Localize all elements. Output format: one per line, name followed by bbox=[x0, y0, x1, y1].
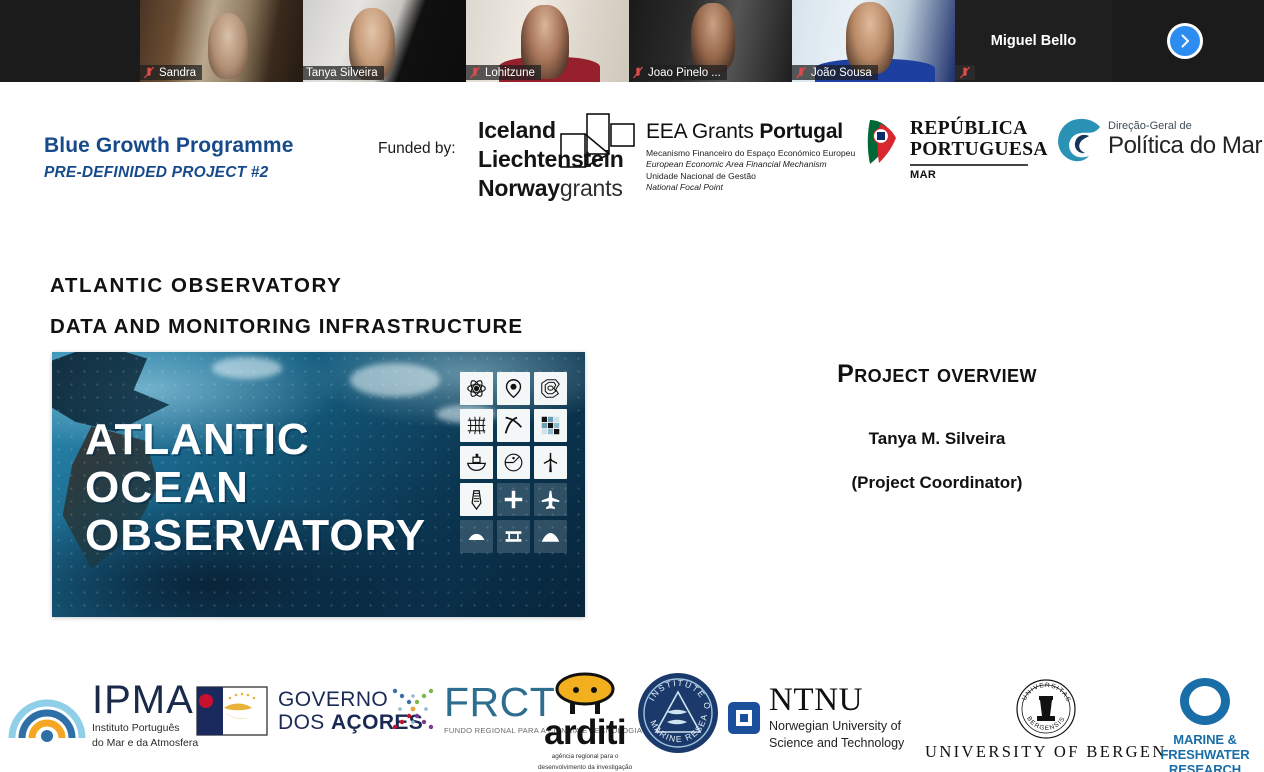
programme-title: Blue Growth Programme PRE-DEFINIDED PROJ… bbox=[44, 134, 293, 182]
wave-swirl-icon bbox=[1056, 114, 1102, 164]
project-overview-block: Project overview Tanya M. Silveira (Proj… bbox=[810, 360, 1064, 493]
dgpm-big-line: Política do Mar bbox=[1108, 133, 1262, 159]
frct-dots-icon bbox=[388, 684, 438, 734]
banner-line-3: OBSERVATORY bbox=[85, 512, 426, 560]
atlantic-ocean-observatory-banner: ATLANTIC OCEAN OBSERVATORY bbox=[52, 352, 585, 617]
participant-nameplate: Sandra bbox=[140, 65, 202, 80]
eea-sub-2: European Economic Area Financial Mechani… bbox=[646, 159, 855, 170]
aircraft-icon bbox=[534, 483, 567, 516]
data-grid-icon bbox=[534, 409, 567, 442]
portugal-shield-icon bbox=[866, 118, 902, 170]
slide-heading-line-2: DATA AND MONITORING INFRASTRUCTURE bbox=[50, 315, 523, 339]
participant-tile-lohitzune[interactable]: Lohitzune bbox=[466, 0, 629, 82]
participant-name: Joao Pinelo ... bbox=[648, 67, 721, 79]
participant-nameplate: Tanya Silveira bbox=[303, 66, 384, 80]
participant-nameplate bbox=[955, 65, 975, 80]
mfri-line-1: MARINE & FRESHWATER bbox=[1146, 732, 1264, 762]
participant-name: Sandra bbox=[159, 67, 196, 79]
banner-title: ATLANTIC OCEAN OBSERVATORY bbox=[85, 416, 426, 560]
partner-logo-university-of-bergen: UNIVERSITAS BERGENSIS UNIVERSITY OF BERG… bbox=[925, 678, 1167, 762]
mfri-wave-icon bbox=[1177, 676, 1233, 728]
ntnu-square-icon bbox=[727, 701, 761, 735]
contour-map-icon bbox=[534, 372, 567, 405]
arditi-sub-1: agência regional para o bbox=[552, 753, 619, 761]
partner-logo-mfri: MARINE & FRESHWATER RESEARCH INSTITUTE bbox=[1146, 676, 1264, 772]
research-vessel-icon bbox=[460, 446, 493, 479]
eea-subtitle: Mecanismo Financeiro do Espaço Económico… bbox=[646, 148, 855, 194]
participant-nameplate: Joao Pinelo ... bbox=[629, 65, 727, 80]
ipma-name: IPMA bbox=[92, 680, 198, 720]
microphone-muted-icon bbox=[632, 66, 644, 79]
buoy-icon bbox=[460, 483, 493, 516]
arditi-name: arditi bbox=[544, 716, 626, 750]
participant-tile-sandra[interactable]: Sandra bbox=[140, 0, 303, 82]
participant-tile-joao-pinelo[interactable]: Joao Pinelo ... bbox=[629, 0, 792, 82]
divider bbox=[910, 164, 1028, 166]
funded-by-label: Funded by: bbox=[378, 140, 456, 158]
radar-dome-icon bbox=[497, 446, 530, 479]
next-participants-button[interactable] bbox=[1112, 0, 1257, 82]
arditi-sub-2: desenvolvimento da investigação bbox=[538, 764, 632, 772]
dgpm-small-line: Direção-Geral de bbox=[1108, 120, 1262, 133]
participant-tile-joao-sousa[interactable]: João Sousa bbox=[792, 0, 955, 82]
grants-geometric-mark bbox=[560, 112, 636, 170]
platform-icon bbox=[497, 520, 530, 553]
presentation-screen: Sandra Tanya Silveira Lohitzune bbox=[0, 0, 1264, 772]
republica-line-1: REPÚBLICA bbox=[910, 118, 1048, 139]
republica-sub: MAR bbox=[910, 169, 1048, 181]
partner-logo-arditi: arditi agência regional para o desenvolv… bbox=[538, 672, 632, 772]
partner-logos-row: IPMA Instituto Português do Mar e da Atm… bbox=[0, 664, 1264, 772]
presenter-role: (Project Coordinator) bbox=[810, 473, 1064, 493]
eea-sub-3: Unidade Nacional de Gestão bbox=[646, 171, 855, 182]
arditi-mark-icon bbox=[554, 672, 616, 716]
republica-line-2: PORTUGUESA bbox=[910, 139, 1048, 160]
eea-sub-1: Mecanismo Financeiro do Espaço Económico… bbox=[646, 148, 855, 159]
partner-logo-ntnu: NTNU Norwegian University of Science and… bbox=[727, 684, 904, 751]
ipma-arcs-icon bbox=[8, 686, 86, 744]
slide-heading-line-1: ATLANTIC OBSERVATORY bbox=[50, 274, 342, 298]
strip-left-padding bbox=[0, 0, 140, 82]
globe-grid-icon bbox=[460, 409, 493, 442]
eea-sub-4: National Focal Point bbox=[646, 182, 855, 193]
wind-turbine-icon bbox=[534, 446, 567, 479]
participant-tile-tanya-silveira[interactable]: Tanya Silveira bbox=[303, 0, 466, 82]
grants-line-3: Norwaygrants bbox=[478, 174, 624, 203]
ntnu-name: NTNU bbox=[769, 684, 904, 717]
partner-logo-institute-marine-research: INSTITUTE OF MARINE RESEARCH bbox=[637, 672, 719, 754]
presenter-name: Tanya M. Silveira bbox=[810, 429, 1064, 449]
banner-line-2: OCEAN bbox=[85, 464, 426, 512]
ntnu-sub-1: Norwegian University of bbox=[769, 719, 904, 734]
microphone-muted-icon bbox=[143, 66, 155, 79]
participant-name: Lohitzune bbox=[485, 67, 535, 79]
observatory-icon-grid bbox=[460, 372, 567, 553]
ipma-sub-1: Instituto Português bbox=[92, 722, 198, 735]
ipma-sub-2: do Mar e da Atmosfera bbox=[92, 737, 198, 750]
bergen-name: UNIVERSITY OF BERGEN bbox=[925, 742, 1167, 762]
sonar-icon bbox=[534, 520, 567, 553]
eea-grants-logo: EEA Grants Portugal Mecanismo Financeiro… bbox=[646, 120, 855, 194]
eea-title: EEA Grants Portugal bbox=[646, 120, 855, 144]
video-participant-strip: Sandra Tanya Silveira Lohitzune bbox=[0, 0, 1264, 82]
banner-line-1: ATLANTIC bbox=[85, 416, 426, 464]
microphone-muted-icon bbox=[469, 66, 481, 79]
chevron-right-icon bbox=[1167, 23, 1203, 59]
microphone-muted-icon bbox=[795, 66, 807, 79]
submarine-icon bbox=[460, 520, 493, 553]
bergen-seal-icon: UNIVERSITAS BERGENSIS bbox=[1015, 678, 1077, 740]
azores-flag-icon bbox=[196, 686, 268, 736]
slide-content: Blue Growth Programme PRE-DEFINIDED PROJ… bbox=[0, 82, 1264, 772]
project-overview-title: Project overview bbox=[810, 360, 1064, 389]
participant-name: Tanya Silveira bbox=[306, 67, 378, 79]
programme-subtitle: PRE-DEFINIDED PROJECT #2 bbox=[44, 164, 293, 182]
atom-icon bbox=[460, 372, 493, 405]
microphone-muted-icon bbox=[959, 66, 971, 79]
mfri-line-2: RESEARCH INSTITUTE bbox=[1146, 762, 1264, 772]
map-pin-icon bbox=[497, 372, 530, 405]
marine-research-seal-icon: INSTITUTE OF MARINE RESEARCH bbox=[637, 672, 719, 754]
participant-tile-miguel-bello[interactable]: Miguel Bello bbox=[955, 0, 1112, 82]
participant-name: João Sousa bbox=[811, 67, 872, 79]
aircraft-plus-icon bbox=[497, 483, 530, 516]
participant-name: Miguel Bello bbox=[991, 33, 1076, 49]
dgpm-logo: Direção-Geral de Política do Mar bbox=[1056, 114, 1262, 164]
republica-portuguesa-logo: REPÚBLICA PORTUGUESA MAR bbox=[866, 118, 1048, 181]
participant-nameplate: Lohitzune bbox=[466, 65, 541, 80]
programme-name: Blue Growth Programme bbox=[44, 134, 293, 158]
ntnu-sub-2: Science and Technology bbox=[769, 736, 904, 751]
participant-nameplate: João Sousa bbox=[792, 65, 878, 80]
partner-logo-ipma: IPMA Instituto Português do Mar e da Atm… bbox=[8, 680, 198, 749]
pickaxe-icon bbox=[497, 409, 530, 442]
